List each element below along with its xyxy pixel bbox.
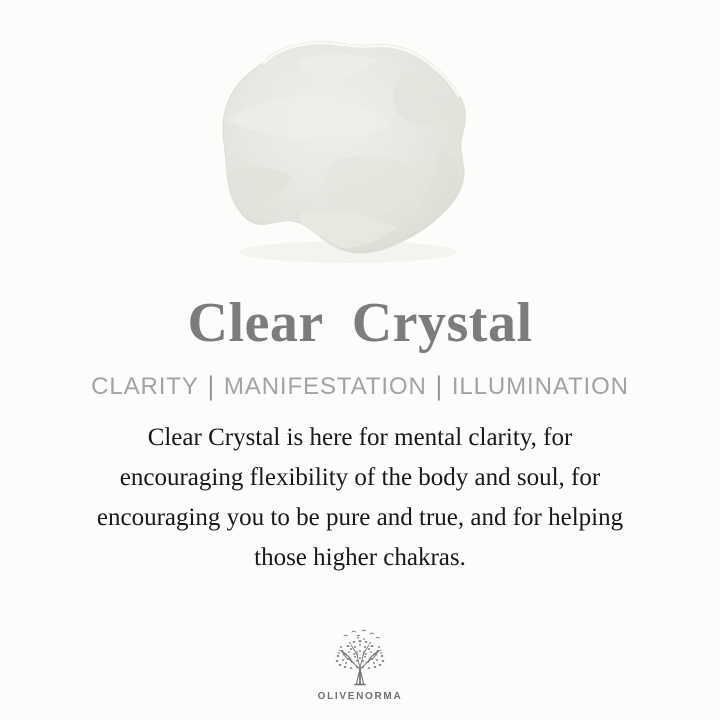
- keyword-manifestation: MANIFESTATION: [224, 373, 427, 401]
- description-line-4: those higher chakras.: [40, 538, 680, 578]
- keyword-clarity: CLARITY: [91, 373, 199, 401]
- crystal-image-area: [0, 0, 720, 292]
- brand-logo: OLIVENORMA: [0, 627, 720, 702]
- olive-tree-icon: [324, 627, 396, 689]
- description-line-1: Clear Crystal is here for mental clarity…: [40, 418, 680, 458]
- description-line-2: encouraging flexibility of the body and …: [40, 458, 680, 498]
- description-line-3: encouraging you to be pure and true, and…: [40, 498, 680, 538]
- crystal-stone-icon: [0, 0, 720, 292]
- keyword-separator-2: |: [427, 371, 452, 402]
- keyword-list: CLARITY | MANIFESTATION | ILLUMINATION: [91, 372, 629, 402]
- keyword-separator-1: |: [199, 371, 224, 402]
- product-description: Clear Crystal is here for mental clarity…: [40, 418, 680, 578]
- keyword-illumination: ILLUMINATION: [452, 373, 629, 401]
- brand-name: OLIVENORMA: [318, 691, 403, 702]
- page-title: Clear Crystal: [188, 292, 533, 356]
- product-info-card: Clear Crystal CLARITY | MANIFESTATION | …: [0, 0, 720, 720]
